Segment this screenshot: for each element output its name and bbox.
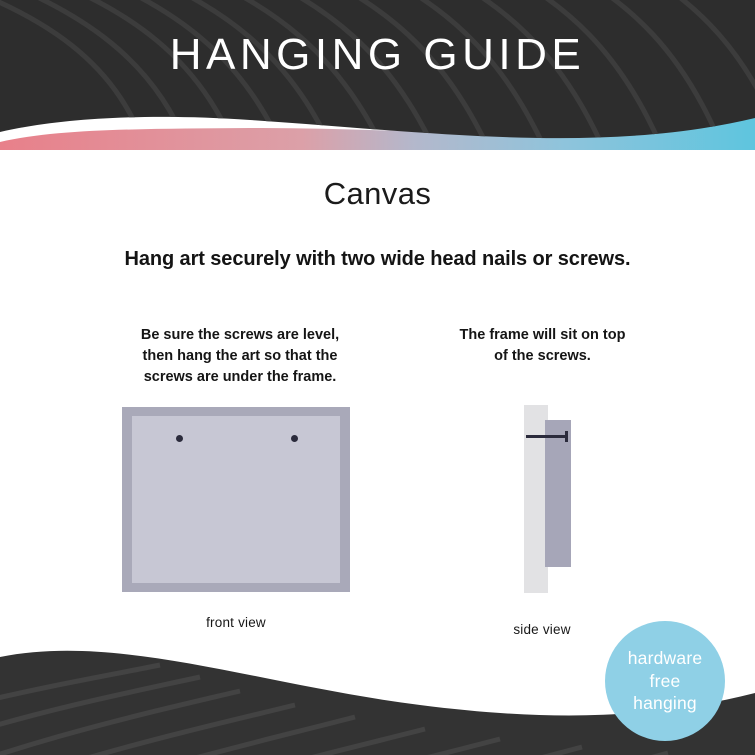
front-view-instruction: Be sure the screws are level, then hang …: [110, 325, 370, 388]
side-frame-body: [545, 420, 571, 567]
instruction-line: then hang the art so that the: [110, 346, 370, 367]
instruction-line: of the screws.: [425, 346, 660, 367]
instruction-line: Be sure the screws are level,: [110, 325, 370, 346]
badge-line: free: [650, 670, 681, 692]
lede-text: Hang art securely with two wide head nai…: [0, 248, 755, 271]
screw-head-icon: [565, 431, 568, 442]
section-title: Canvas: [0, 176, 755, 212]
side-view-column: The frame will sit on top of the screws.: [425, 325, 660, 367]
screw-dot-right-icon: [291, 435, 298, 442]
front-view-diagram: [122, 407, 350, 592]
badge-line: hanging: [633, 692, 697, 714]
hanging-guide-page: HANGING GUIDE Canvas Hang art securely w…: [0, 0, 755, 755]
page-title: HANGING GUIDE: [0, 31, 755, 79]
badge-line: hardware: [628, 647, 703, 669]
side-view-instruction: The frame will sit on top of the screws.: [425, 325, 660, 367]
instruction-line: The frame will sit on top: [425, 325, 660, 346]
hardware-free-hanging-badge: hardware free hanging: [605, 621, 725, 741]
front-view-column: Be sure the screws are level, then hang …: [110, 325, 370, 388]
instruction-line: screws are under the frame.: [110, 367, 370, 388]
side-view-diagram: [520, 405, 590, 595]
frame-inner-canvas: [132, 416, 340, 583]
screw-dot-left-icon: [176, 435, 183, 442]
screw-shaft-icon: [526, 435, 568, 438]
header-banner: HANGING GUIDE: [0, 0, 755, 150]
